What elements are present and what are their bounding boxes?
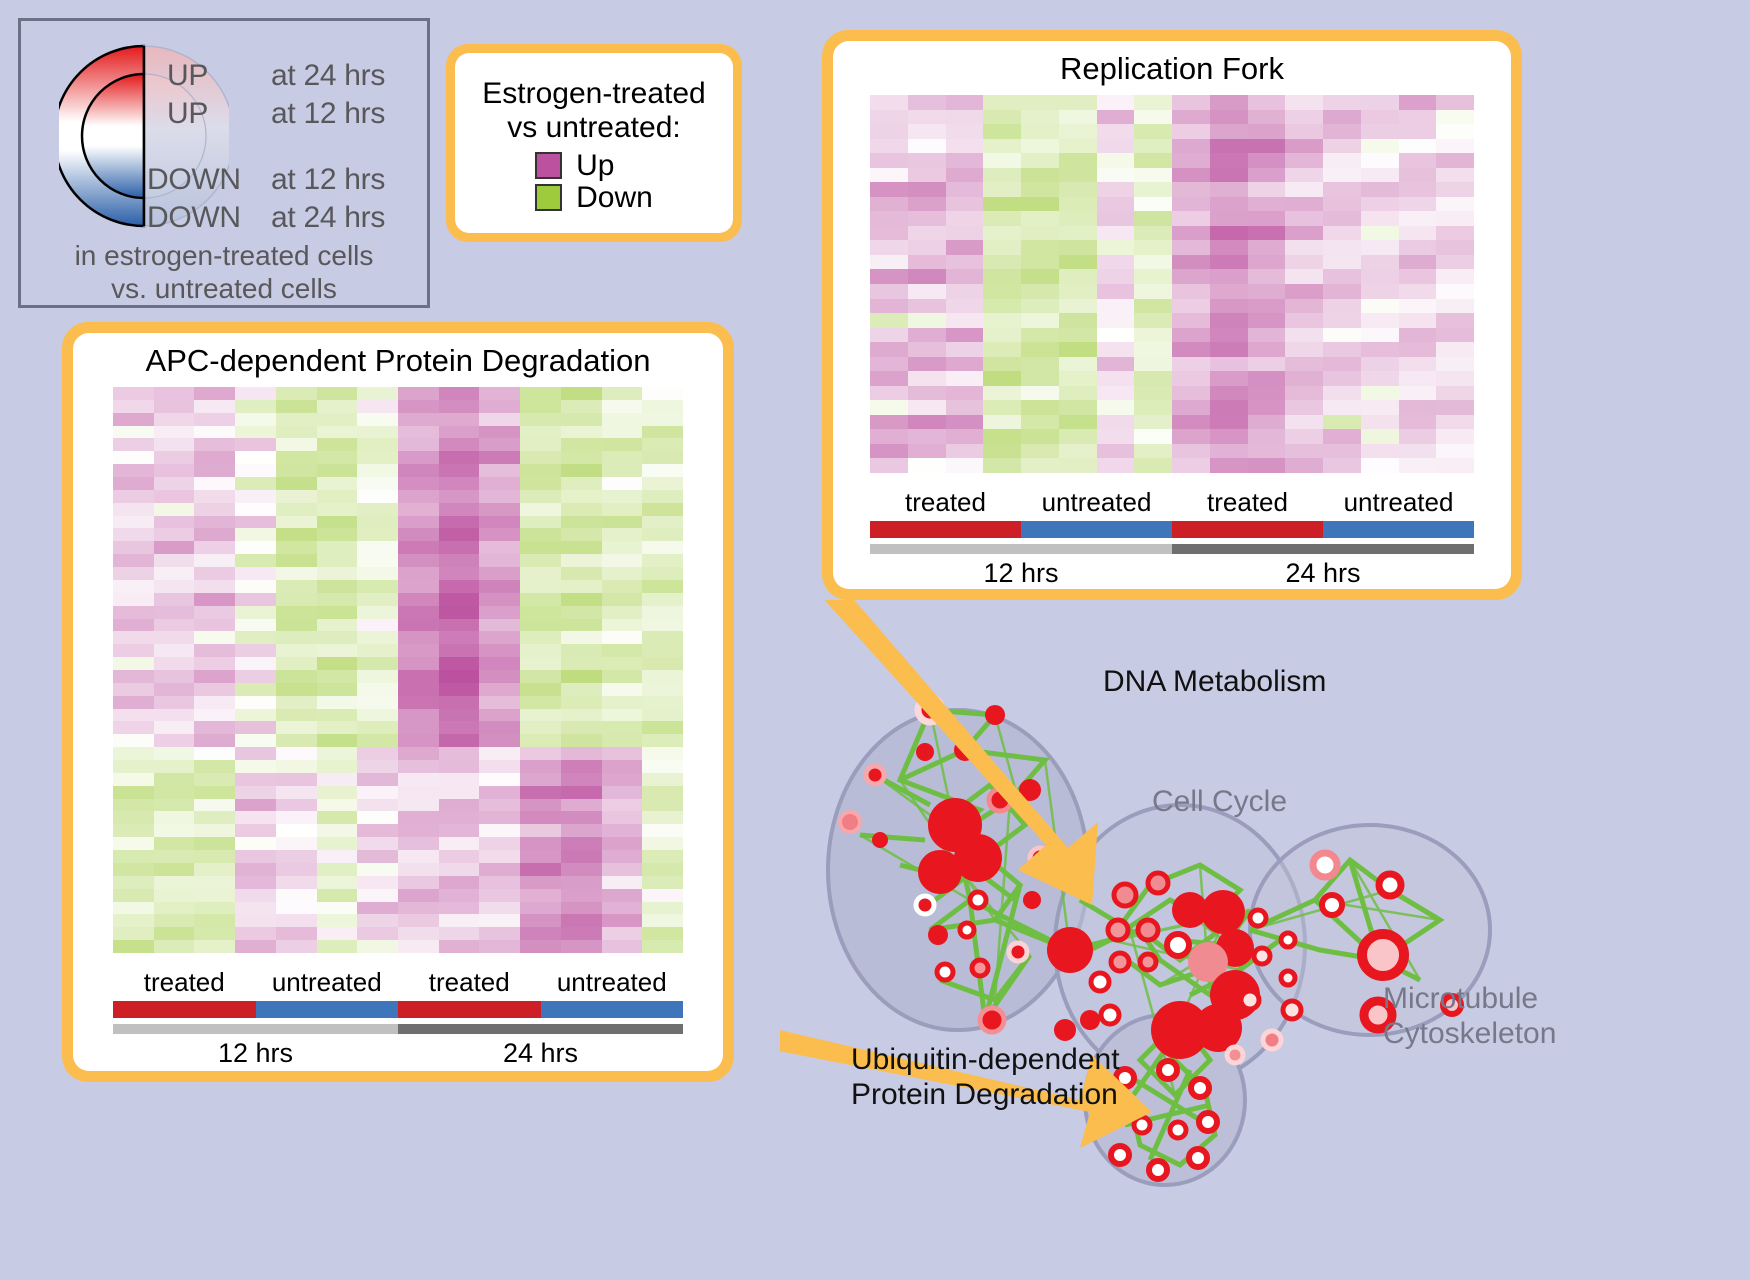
heatmap-cell [983, 182, 1021, 197]
heatmap-cell [357, 721, 398, 734]
heatmap-cell [1361, 226, 1399, 241]
heatmap-cell [602, 451, 643, 464]
heatmap-cell [870, 284, 908, 299]
heatmap-cell [870, 357, 908, 372]
heatmap-cell [1172, 328, 1210, 343]
heatmap-cell [1436, 371, 1474, 386]
heatmap-cell [602, 927, 643, 940]
heatmap-cell [946, 110, 984, 125]
heatmap-cell [398, 619, 439, 632]
heatmap-cell [908, 371, 946, 386]
heatmap-cell [479, 940, 520, 953]
heatmap-cell [479, 593, 520, 606]
heatmap-cell [317, 528, 358, 541]
heatmap-cell [1248, 400, 1286, 415]
time-labels-apc: 12 hrs24 hrs [113, 1038, 683, 1069]
heatmap-cell [113, 541, 154, 554]
updown-title-line-1: Estrogen-treated [482, 77, 705, 111]
heatmap-cell [235, 503, 276, 516]
heatmap-cell [154, 541, 195, 554]
heatmap-cell [908, 95, 946, 110]
heatmap-cell [276, 670, 317, 683]
heatmap-cell [602, 786, 643, 799]
heatmap-cell [479, 619, 520, 632]
heatmap-cell [479, 824, 520, 837]
heatmap-cell [194, 889, 235, 902]
heatmap-cell [357, 786, 398, 799]
heatmap-cell [194, 413, 235, 426]
heatmap-cell [1248, 371, 1286, 386]
heatmap-cell [1172, 240, 1210, 255]
heatmap-cell [357, 606, 398, 619]
heatmap-cell [439, 747, 480, 760]
heatmap-cell [1399, 226, 1437, 241]
heatmap-cell [1021, 386, 1059, 401]
heatmap-cell [113, 528, 154, 541]
heatmap-cell [1097, 139, 1135, 154]
heatmap-cell [870, 415, 908, 430]
heatmap-cell [154, 940, 195, 953]
heatmap-cell [983, 328, 1021, 343]
heatmap-cell [642, 477, 683, 490]
heatmap-cell [1399, 110, 1437, 125]
heatmap-cell [194, 863, 235, 876]
heatmap-cell [1172, 444, 1210, 459]
heatmap-cell [235, 644, 276, 657]
heatmap-cell [113, 889, 154, 902]
heatmap-replication-fork [870, 95, 1474, 473]
heatmap-cell [1059, 299, 1097, 314]
time-color-bar-apc [113, 1024, 683, 1034]
heatmap-cell [317, 657, 358, 670]
heatmap-cell [983, 211, 1021, 226]
heatmap-cell [479, 631, 520, 644]
heatmap-cell [1248, 269, 1286, 284]
heatmap-cell [946, 429, 984, 444]
heatmap-cell [1248, 255, 1286, 270]
heatmap-cell [194, 438, 235, 451]
heatmap-cell [479, 734, 520, 747]
heatmap-cell [1285, 429, 1323, 444]
heatmap-cell [1399, 95, 1437, 110]
heatmap-cell [113, 516, 154, 529]
heatmap-cell [439, 670, 480, 683]
heatmap-cell [1361, 255, 1399, 270]
heatmap-cell [276, 477, 317, 490]
heatmap-cell [1021, 182, 1059, 197]
heatmap-cell [870, 182, 908, 197]
heatmap-cell [1399, 357, 1437, 372]
heatmap-cell [357, 824, 398, 837]
heatmap-cell [602, 837, 643, 850]
heatmap-cell [602, 438, 643, 451]
heatmap-cell [1134, 400, 1172, 415]
heatmap-cell [357, 464, 398, 477]
heatmap-cell [870, 444, 908, 459]
heatmap-cell [1323, 197, 1361, 212]
heatmap-cell [154, 799, 195, 812]
heatmap-cell [1172, 400, 1210, 415]
heatmap-cell [520, 889, 561, 902]
heatmap-cell [1436, 95, 1474, 110]
heatmap-cell [1097, 400, 1135, 415]
heatmap-cell [908, 110, 946, 125]
heatmap-cell [1134, 197, 1172, 212]
heatmap-cell [983, 255, 1021, 270]
heatmap-cell [1361, 153, 1399, 168]
heatmap-cell [194, 580, 235, 593]
heatmap-cell [479, 464, 520, 477]
heatmap-cell [235, 799, 276, 812]
heatmap-cell [113, 876, 154, 889]
time-swatch [113, 1024, 398, 1034]
heatmap-cell [983, 371, 1021, 386]
heatmap-cell [1436, 168, 1474, 183]
heatmap-cell [602, 902, 643, 915]
heatmap-cell [1323, 371, 1361, 386]
heatmap-cell [479, 606, 520, 619]
heatmap-cell [561, 387, 602, 400]
heatmap-cell [276, 696, 317, 709]
heatmap-cell [398, 889, 439, 902]
heatmap-cell [1323, 458, 1361, 473]
heatmap-cell [398, 850, 439, 863]
heatmap-cell [520, 760, 561, 773]
heatmap-cell [1399, 124, 1437, 139]
heatmap-cell [357, 863, 398, 876]
heatmap-cell [870, 95, 908, 110]
heatmap-cell [154, 426, 195, 439]
heatmap-cell [1059, 110, 1097, 125]
heatmap-cell [398, 387, 439, 400]
heatmap-cell [1172, 357, 1210, 372]
heatmap-cell [520, 413, 561, 426]
heatmap-cell [908, 284, 946, 299]
heatmap-cell [113, 644, 154, 657]
heatmap-cell [113, 786, 154, 799]
heatmap-cell [276, 593, 317, 606]
heatmap-cell [113, 760, 154, 773]
heatmap-cell [398, 516, 439, 529]
heatmap-cell [520, 876, 561, 889]
heatmap-cell [1097, 444, 1135, 459]
heatmap-cell [276, 503, 317, 516]
heatmap-cell [357, 773, 398, 786]
heatmap-cell [908, 197, 946, 212]
heatmap-cell [946, 284, 984, 299]
heatmap-cell [1361, 342, 1399, 357]
heatmap-cell [235, 477, 276, 490]
heatmap-cell [276, 709, 317, 722]
heatmap-cell [1436, 255, 1474, 270]
heatmap-cell [357, 889, 398, 902]
heatmap-cell [276, 541, 317, 554]
heatmap-cell [194, 528, 235, 541]
heatmap-cell [1134, 444, 1172, 459]
heatmap-cell [1436, 226, 1474, 241]
legend-item-up: Up [535, 150, 653, 182]
heatmap-cell [154, 528, 195, 541]
heatmap-cell [1210, 255, 1248, 270]
heatmap-cell [317, 541, 358, 554]
heatmap-cell [908, 255, 946, 270]
heatmap-cell [1361, 415, 1399, 430]
heatmap-cell [1399, 255, 1437, 270]
heatmap-cell [1361, 444, 1399, 459]
heatmap-cell [1134, 284, 1172, 299]
heatmap-cell [113, 438, 154, 451]
heatmap-cell [398, 631, 439, 644]
heatmap-cell [642, 644, 683, 657]
heatmap-cell [276, 387, 317, 400]
heatmap-cell [439, 760, 480, 773]
heatmap-cell [642, 528, 683, 541]
heatmap-cell [1097, 211, 1135, 226]
heatmap-cell [520, 606, 561, 619]
heatmap-cell [520, 927, 561, 940]
heatmap-cell [194, 631, 235, 644]
heatmap-cell [113, 631, 154, 644]
heatmap-cell [1134, 153, 1172, 168]
heatmap-cell [317, 734, 358, 747]
heatmap-cell [946, 342, 984, 357]
heatmap-cell [1323, 415, 1361, 430]
heatmap-cell [1021, 284, 1059, 299]
heatmap-cell [1134, 342, 1172, 357]
heatmap-cell [1436, 110, 1474, 125]
heatmap-cell [561, 567, 602, 580]
heatmap-cell [561, 902, 602, 915]
heatmap-cell [154, 786, 195, 799]
heatmap-cell [1361, 284, 1399, 299]
heatmap-cell [357, 734, 398, 747]
heatmap-cell [235, 567, 276, 580]
heatmap-cell [357, 837, 398, 850]
heatmap-cell [113, 850, 154, 863]
heatmap-cell [908, 240, 946, 255]
heatmap-cell [317, 580, 358, 593]
heatmap-cell [1361, 124, 1399, 139]
heatmap-cell [479, 477, 520, 490]
heatmap-cell [1210, 458, 1248, 473]
heatmap-cell [398, 438, 439, 451]
heatmap-cell [908, 357, 946, 372]
heatmap-cell [642, 863, 683, 876]
heatmap-cell [1436, 400, 1474, 415]
heatmap-cell [194, 451, 235, 464]
heatmap-cell [561, 850, 602, 863]
ubiquitin-label-line-1: Ubiquitin-dependent [851, 1043, 1120, 1078]
heatmap-cell [479, 696, 520, 709]
heatmap-cell [1361, 168, 1399, 183]
heatmap-cell [946, 124, 984, 139]
heatmap-cell [1059, 95, 1097, 110]
heatmap-cell [1059, 429, 1097, 444]
heatmap-cell [235, 721, 276, 734]
heatmap-cell [908, 415, 946, 430]
time-labels-replication: 12 hrs24 hrs [870, 558, 1474, 589]
heatmap-cell [561, 773, 602, 786]
heatmap-cell [235, 606, 276, 619]
heatmap-cell [276, 451, 317, 464]
heatmap-cell [642, 683, 683, 696]
heatmap-cell [1059, 371, 1097, 386]
heatmap-cell [1097, 168, 1135, 183]
heatmap-cell [1210, 400, 1248, 415]
heatmap-cell [439, 464, 480, 477]
heatmap-cell [1399, 444, 1437, 459]
heatmap-cell [561, 670, 602, 683]
heatmap-cell [642, 670, 683, 683]
heatmap-cell [113, 709, 154, 722]
heatmap-cell [1059, 444, 1097, 459]
heatmap-cell [317, 696, 358, 709]
heatmap-cell [602, 799, 643, 812]
heatmap-cell [439, 477, 480, 490]
heatmap-cell [1361, 139, 1399, 154]
heatmap-cell [154, 747, 195, 760]
heatmap-cell [154, 914, 195, 927]
heatmap-cell [479, 490, 520, 503]
heatmap-cell [983, 458, 1021, 473]
heatmap-cell [520, 464, 561, 477]
heatmap-cell [317, 683, 358, 696]
heatmap-cell [276, 824, 317, 837]
heatmap-cell [1097, 226, 1135, 241]
heatmap-cell [1059, 153, 1097, 168]
heatmap-cell [276, 863, 317, 876]
heatmap-cell [1399, 328, 1437, 343]
heatmap-cell [1210, 299, 1248, 314]
heatmap-cell [520, 644, 561, 657]
heatmap-cell [439, 889, 480, 902]
heatmap-cell [235, 593, 276, 606]
time-label: 12 hrs [113, 1038, 398, 1069]
heatmap-cell [1172, 95, 1210, 110]
heatmap-cell [479, 927, 520, 940]
heatmap-cell [154, 837, 195, 850]
heatmap-cell [276, 902, 317, 915]
heatmap-cell [1172, 429, 1210, 444]
axis-replication: treateduntreatedtreateduntreated 12 hrs2… [870, 487, 1474, 589]
heatmap-cell [317, 516, 358, 529]
condition-labels-apc: treateduntreatedtreateduntreated [113, 967, 683, 998]
heatmap-cell [946, 386, 984, 401]
time-color-bar-replication [870, 544, 1474, 554]
heatmap-cell [561, 824, 602, 837]
heatmap-cell [1248, 415, 1286, 430]
updown-title-line-2: vs untreated: [482, 111, 705, 145]
time-swatch [1172, 544, 1474, 554]
heatmap-cell [1210, 197, 1248, 212]
heatmap-cell [1323, 182, 1361, 197]
heatmap-cell [317, 914, 358, 927]
heatmap-cell [1436, 269, 1474, 284]
heatmap-cell [1399, 197, 1437, 212]
heatmap-cell [1134, 269, 1172, 284]
heatmap-cell [1097, 342, 1135, 357]
heatmap-cell [357, 516, 398, 529]
heatmap-cell [908, 342, 946, 357]
heatmap-cell [276, 426, 317, 439]
heatmap-cell [1172, 386, 1210, 401]
heatmap-cell [439, 567, 480, 580]
heatmap-cell [946, 153, 984, 168]
heatmap-cell [357, 799, 398, 812]
heatmap-cell [439, 683, 480, 696]
heatmap-cell [908, 328, 946, 343]
heatmap-cell [439, 490, 480, 503]
heatmap-cell [398, 902, 439, 915]
heatmap-cell [1059, 168, 1097, 183]
heatmap-cell [1134, 313, 1172, 328]
heatmap-cell [983, 313, 1021, 328]
heatmap-cell [946, 458, 984, 473]
heatmap-cell [398, 451, 439, 464]
legend-ring-label-2: DOWN [147, 163, 241, 197]
heatmap-cell [113, 863, 154, 876]
heatmap-cell [1361, 386, 1399, 401]
heatmap-cell [113, 413, 154, 426]
heatmap-cell [1399, 269, 1437, 284]
heatmap-cell [1323, 284, 1361, 299]
heatmap-cell [357, 477, 398, 490]
heatmap-cell [1059, 197, 1097, 212]
heatmap-apc-degradation [113, 387, 683, 953]
heatmap-cell [439, 631, 480, 644]
heatmap-cell [1097, 313, 1135, 328]
heatmap-cell [154, 451, 195, 464]
heatmap-cell [1021, 357, 1059, 372]
heatmap-cell [479, 683, 520, 696]
heatmap-cell [1097, 458, 1135, 473]
heatmap-cell [1399, 139, 1437, 154]
heatmap-cell [1210, 429, 1248, 444]
cluster-label-dna-metabolism: DNA Metabolism [1103, 665, 1326, 700]
heatmap-cell [1436, 357, 1474, 372]
heatmap-cell [1134, 226, 1172, 241]
heatmap-cell [1134, 357, 1172, 372]
heatmap-cell [113, 721, 154, 734]
heatmap-cell [561, 528, 602, 541]
heatmap-cell [1097, 153, 1135, 168]
heatmap-cell [357, 876, 398, 889]
heatmap-cell [113, 799, 154, 812]
heatmap-cell [1172, 211, 1210, 226]
heatmap-cell [357, 567, 398, 580]
heatmap-cell [194, 927, 235, 940]
heatmap-cell [439, 786, 480, 799]
heatmap-cell [946, 168, 984, 183]
heatmap-cell [1323, 240, 1361, 255]
heatmap-cell [602, 593, 643, 606]
heatmap-cell [439, 451, 480, 464]
heatmap-cell [908, 299, 946, 314]
heatmap-cell [1134, 299, 1172, 314]
condition-swatch [256, 1001, 399, 1018]
heatmap-cell [561, 927, 602, 940]
heatmap-cell [398, 914, 439, 927]
heatmap-cell [1436, 386, 1474, 401]
heatmap-cell [317, 631, 358, 644]
heatmap-cell [1097, 415, 1135, 430]
heatmap-cell [235, 516, 276, 529]
heatmap-cell [602, 850, 643, 863]
heatmap-cell [602, 657, 643, 670]
heatmap-cell [1210, 371, 1248, 386]
heatmap-cell [194, 760, 235, 773]
heatmap-cell [357, 657, 398, 670]
